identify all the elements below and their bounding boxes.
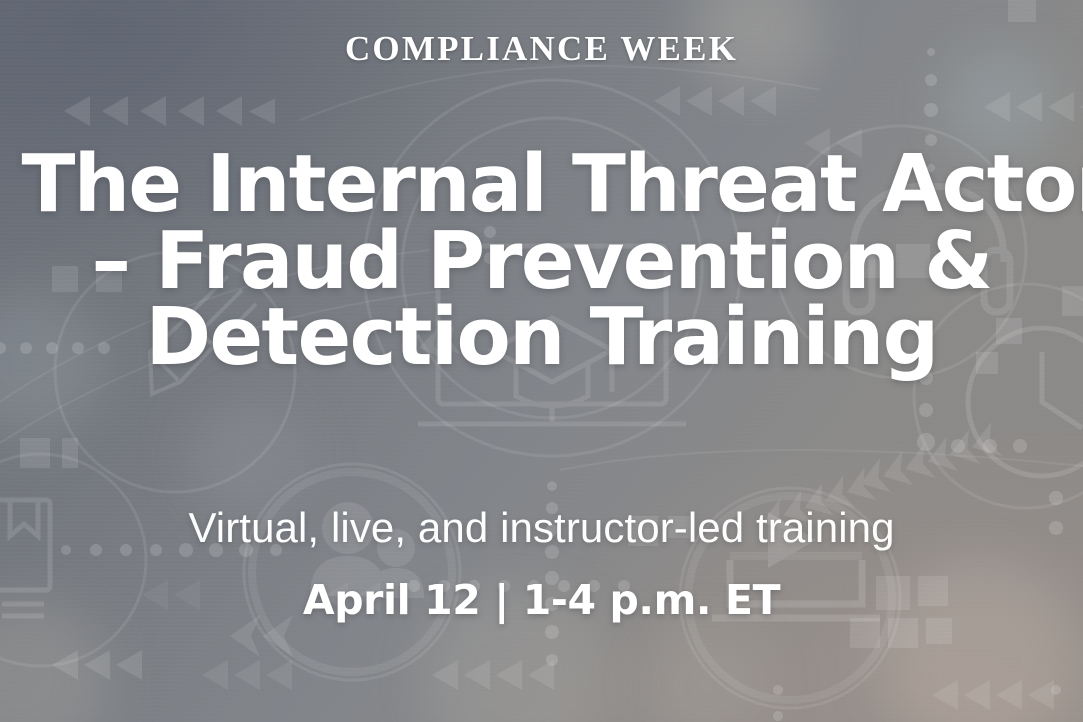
- page-title: The Internal Threat Actor – Fraud Preven…: [22, 146, 1062, 376]
- compliance-week-logo: COMPLIANCE WEEK: [345, 31, 738, 66]
- banner-content: COMPLIANCE WEEK The Internal Threat Acto…: [0, 0, 1083, 722]
- subtitle: Virtual, live, and instructor-led traini…: [188, 507, 894, 549]
- event-dateline: April 12 | 1-4 p.m. ET: [303, 580, 780, 621]
- promo-banner: COMPLIANCE WEEK The Internal Threat Acto…: [0, 0, 1083, 722]
- page-title-line-3: Detection Training: [22, 299, 1062, 376]
- page-title-line-2: – Fraud Prevention &: [22, 223, 1062, 300]
- page-title-line-1: The Internal Threat Actor: [22, 146, 1062, 223]
